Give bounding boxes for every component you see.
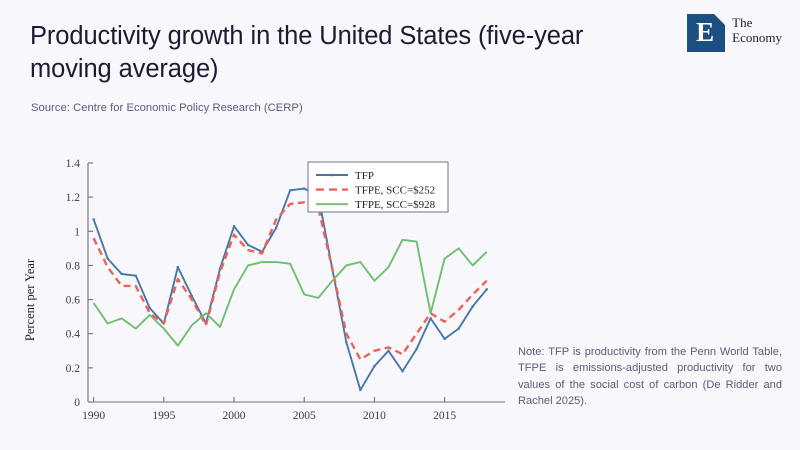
legend-label-2: TFPE, SCC=$928 (355, 199, 436, 211)
logo-wordmark-line1: The (732, 16, 782, 31)
logo-letter: E (696, 19, 714, 46)
series-marker (387, 350, 389, 352)
y-tick-label: 0.8 (66, 260, 81, 272)
y-tick-label: 0.6 (66, 295, 81, 307)
x-tick-label: 2000 (223, 410, 246, 422)
logo-wordmark: The Economy (732, 14, 782, 45)
y-tick-label: 1 (74, 226, 80, 238)
series-marker (177, 266, 179, 268)
chart-note: Note: TFP is productivity from the Penn … (518, 344, 782, 410)
series-line-1 (94, 202, 487, 359)
series-marker (345, 341, 347, 343)
series-marker (121, 273, 123, 275)
series-marker (247, 244, 249, 246)
legend-label-1: TFPE, SCC=$252 (355, 185, 435, 197)
series-marker (149, 307, 151, 309)
x-tick-label: 2005 (293, 410, 316, 422)
series-marker (107, 258, 109, 260)
series-marker (429, 317, 431, 319)
y-axis-title: Percent per Year (23, 258, 37, 341)
series-marker (289, 189, 291, 191)
series-marker (93, 218, 95, 220)
series-marker (373, 365, 375, 367)
series-line-0 (94, 189, 487, 390)
source-caption: Source: Centre for Economic Policy Resea… (31, 102, 303, 114)
logo-wordmark-line2: Economy (732, 31, 782, 46)
series-marker (458, 327, 460, 329)
chart-legend: TFPTFPE, SCC=$252TFPE, SCC=$928 (308, 162, 448, 212)
y-tick-label: 1.2 (66, 192, 81, 204)
series-marker (444, 338, 446, 340)
series-marker (359, 389, 361, 391)
series-marker (303, 188, 305, 190)
series-line-2 (94, 240, 487, 346)
slide-root: Productivity growth in the United States… (0, 0, 800, 450)
legend-marker (331, 174, 333, 176)
legend-label-0: TFP (355, 170, 374, 182)
logo-mark-icon: E (687, 14, 725, 52)
series-marker (233, 225, 235, 227)
logo-fold-corner-icon (714, 14, 725, 25)
line-chart: 00.20.40.60.811.21.419901995200020052010… (20, 140, 510, 430)
x-tick-label: 1995 (152, 410, 175, 422)
y-tick-label: 0.4 (66, 329, 81, 341)
chart-series (93, 188, 488, 392)
the-economy-logo: E The Economy (687, 14, 782, 52)
series-marker (401, 370, 403, 372)
series-marker (472, 305, 474, 307)
series-marker (275, 227, 277, 229)
series-marker (415, 348, 417, 350)
x-tick-label: 1990 (82, 410, 105, 422)
x-tick-label: 2015 (433, 410, 456, 422)
series-marker (486, 288, 488, 290)
page-title: Productivity growth in the United States… (30, 20, 650, 85)
chart-container: 00.20.40.60.811.21.419901995200020052010… (20, 140, 510, 430)
x-tick-label: 2010 (363, 410, 386, 422)
y-tick-label: 0.2 (66, 363, 81, 375)
series-marker (135, 275, 137, 277)
y-tick-label: 0 (74, 397, 80, 409)
y-tick-label: 1.4 (66, 158, 81, 170)
